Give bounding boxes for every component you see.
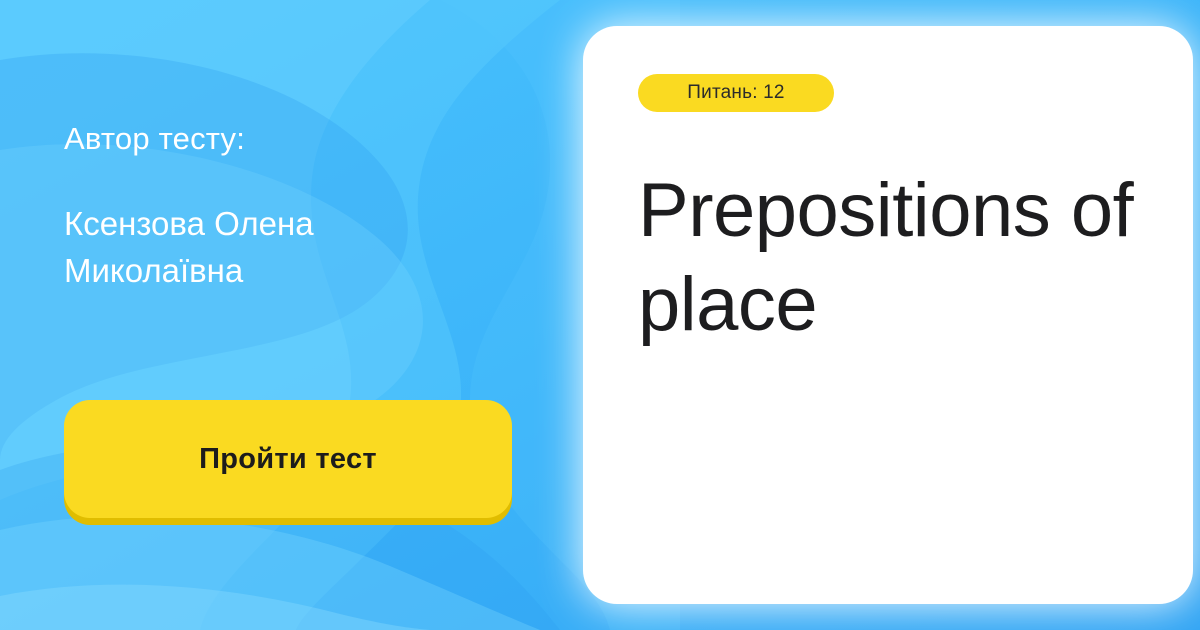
test-title: Prepositions of place: [638, 164, 1178, 352]
author-name: Ксензова Олена Миколаївна: [64, 201, 464, 295]
author-label: Автор тесту:: [64, 120, 520, 157]
promo-card-stage: Автор тесту: Ксензова Олена Миколаївна П…: [0, 0, 1200, 630]
take-test-button[interactable]: Пройти тест: [64, 400, 512, 518]
test-preview-card[interactable]: Питань: 12 Prepositions of place: [583, 26, 1193, 604]
question-count-badge: Питань: 12: [638, 74, 834, 112]
left-info-panel: Автор тесту: Ксензова Олена Миколаївна: [0, 0, 580, 630]
